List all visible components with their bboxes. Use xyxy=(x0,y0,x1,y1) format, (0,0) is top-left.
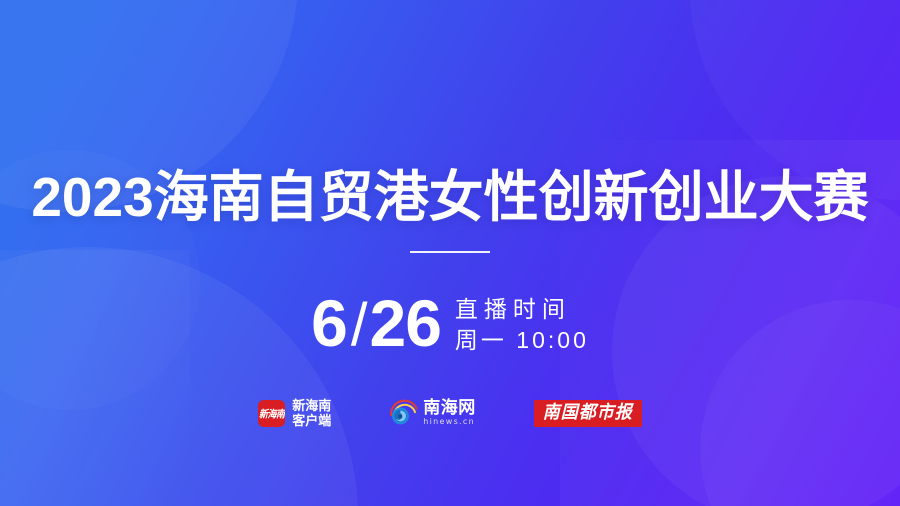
xinhainan-app-icon-text: 新海南 xyxy=(259,406,285,421)
hinews-wordmark: 南海网 hinews.cn xyxy=(423,399,476,427)
media-partner-logos: 新海南 新海南 客户端 南海网 hinews.cn xyxy=(0,398,900,428)
xinhainan-app-icon: 新海南 xyxy=(258,400,285,427)
broadcast-time-label: 直播时间 xyxy=(453,294,589,325)
hinews-name: 南海网 xyxy=(423,399,476,417)
hinews-domain: hinews.cn xyxy=(423,417,476,427)
title-divider xyxy=(410,251,490,253)
xinhainan-wordmark-line1: 新海南 xyxy=(292,398,331,413)
nanguo-metropolis-daily-wordmark: 南国都市报 xyxy=(543,403,633,423)
page-title: 2023海南自贸港女性创新创业大赛 xyxy=(0,166,900,228)
promo-poster: 2023海南自贸港女性创新创业大赛 6 / 26 直播时间 周一 10:00 新… xyxy=(0,0,900,506)
broadcast-date: 6 / 26 xyxy=(311,288,441,361)
logo-nanguo-metropolis-daily[interactable]: 南国都市报 xyxy=(534,400,642,427)
broadcast-day: 26 xyxy=(370,288,441,358)
logo-xinhainan-app[interactable]: 新海南 新海南 客户端 xyxy=(258,398,331,428)
broadcast-time-block: 直播时间 周一 10:00 xyxy=(453,294,589,356)
logo-hinews[interactable]: 南海网 hinews.cn xyxy=(389,399,476,428)
decorative-circle-bottom-left xyxy=(0,247,358,506)
xinhainan-wordmark-line2: 客户端 xyxy=(292,413,331,428)
hinews-swirl-icon xyxy=(389,399,418,428)
broadcast-datetime: 6 / 26 直播时间 周一 10:00 xyxy=(0,288,900,361)
xinhainan-wordmark: 新海南 客户端 xyxy=(292,398,331,428)
date-separator: / xyxy=(351,290,367,360)
broadcast-time-value: 周一 10:00 xyxy=(453,325,589,356)
broadcast-month: 6 xyxy=(311,288,347,358)
